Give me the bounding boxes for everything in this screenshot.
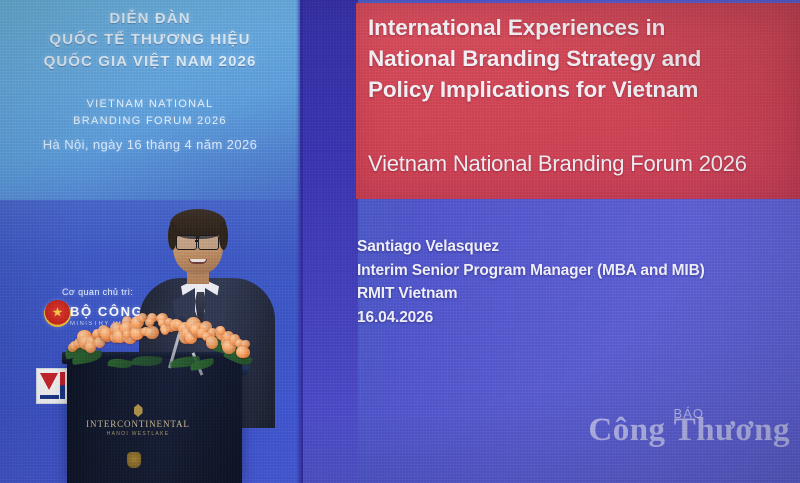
slide-title-line1: International Experiences in [368,12,792,43]
speaker-role: Interim Senior Program Manager (MBA and … [357,259,705,283]
forum-title-english: VIETNAM NATIONAL BRANDING FORUM 2026 [0,96,300,129]
podium-emblem-icon [127,452,141,468]
presentation-photo: DIỄN ĐÀN QUỐC TẾ THƯƠNG HIỆU QUỐC GIA VI… [0,0,800,483]
slide-date: 16.04.2026 [357,306,705,330]
foliage-leaf [132,355,163,367]
podium-venue-sign: INTERCONTINENTAL HANOI WESTLAKE [84,404,192,437]
speaker-organisation: RMIT Vietnam [357,282,705,306]
v-logo-base-icon [40,395,59,399]
sponsor-v-logo-icon [36,368,68,404]
forum-title-vi-line2: QUỐC TẾ THƯƠNG HIỆU [0,29,300,50]
hair-side-right [219,222,228,250]
speaker-name: Santiago Velasquez [357,235,705,259]
organiser-label: Cơ quan chủ trì: [62,287,133,297]
venue-location-name: HANOI WESTLAKE [84,431,192,437]
rose-flower [145,326,159,340]
eyeglasses-lens-right [198,235,219,250]
forum-date-location: Hà Nội, ngày 16 tháng 4 năm 2026 [0,137,300,152]
forum-title-vi-line3: QUỐC GIA VIỆT NAM 2026 [0,51,300,72]
slide-title-line3: Policy Implications for Vietnam [368,74,792,105]
v-mark-icon [40,373,58,390]
slide-title-banner: International Experiences in National Br… [356,3,800,199]
intercontinental-logo-icon [134,404,143,417]
slide-title-line2: National Branding Strategy and [368,43,792,74]
teeth [190,259,206,262]
forum-title-vietnamese: DIỄN ĐÀN QUỐC TẾ THƯƠNG HIỆU QUỐC GIA VI… [0,8,300,72]
slide-speaker-info: Santiago Velasquez Interim Senior Progra… [357,235,705,329]
rose-flower [206,336,218,348]
v-logo-bar-icon [60,372,65,399]
rose-flower [161,327,170,336]
venue-brand-name: INTERCONTINENTAL [84,419,192,429]
slide-title: International Experiences in National Br… [368,12,792,105]
forum-title-vi-line1: DIỄN ĐÀN [0,8,300,29]
rose-flower [236,346,248,358]
backdrop-panel-divider [296,0,303,483]
backdrop-indigo-band [300,0,358,483]
eyeglasses-lens-left [176,235,197,250]
slide-subtitle: Vietnam National Branding Forum 2026 [368,151,800,177]
forum-title-en-line2: BRANDING FORUM 2026 [0,113,300,130]
flower-arrangement [62,312,252,370]
forum-title-en-line1: VIETNAM NATIONAL [0,96,300,113]
foliage-leaf [107,357,132,370]
eyeglasses-bridge [195,240,199,242]
